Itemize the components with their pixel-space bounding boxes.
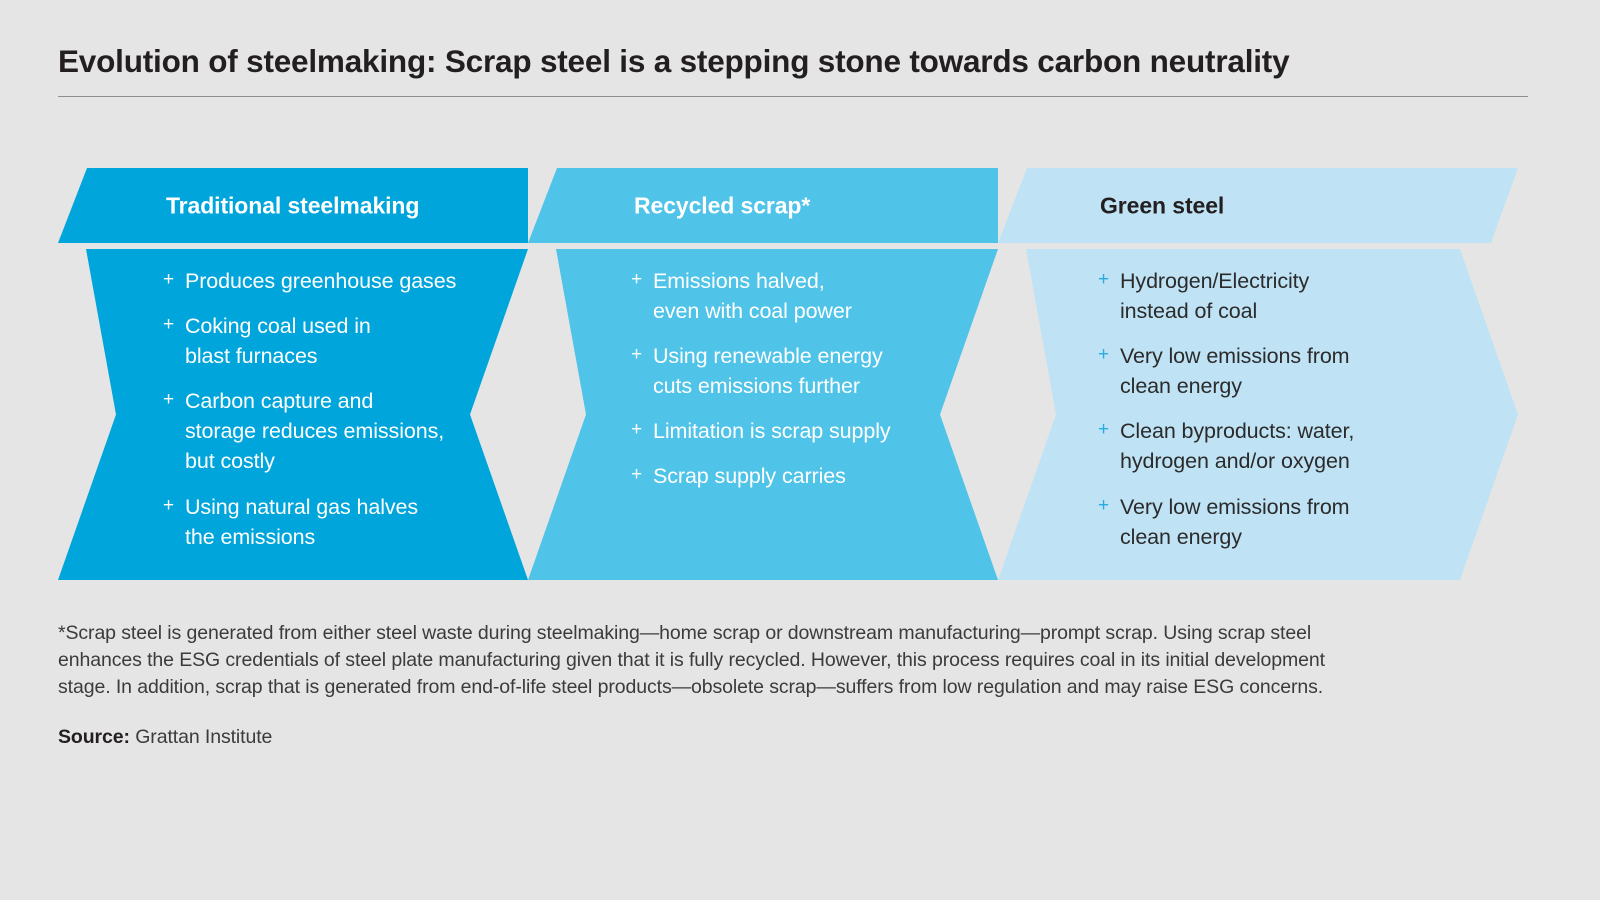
bullet-text: Using renewable energy cuts emissions fu… bbox=[653, 341, 981, 401]
bullet-text: Coking coal used in blast furnaces bbox=[185, 311, 513, 371]
plus-icon: + bbox=[1098, 266, 1120, 294]
list-item: + Limitation is scrap supply bbox=[631, 416, 981, 446]
footnote-block: *Scrap steel is generated from either st… bbox=[58, 620, 1358, 749]
list-item: + Coking coal used in blast furnaces bbox=[163, 311, 513, 371]
plus-icon: + bbox=[631, 341, 653, 369]
chevron-bullet-list-green-steel: + Hydrogen/Electricity instead of coal +… bbox=[1098, 266, 1498, 552]
plus-icon: + bbox=[163, 311, 185, 339]
chevron-stage-body-green-steel: + Hydrogen/Electricity instead of coal +… bbox=[998, 249, 1518, 580]
list-item: + Scrap supply carries bbox=[631, 461, 981, 491]
chevron-bullet-list-traditional-steelmaking: + Produces greenhouse gases + Coking coa… bbox=[163, 266, 513, 552]
list-item: + Using natural gas halves the emissions bbox=[163, 492, 513, 552]
bullet-text: Very low emissions from clean energy bbox=[1120, 341, 1498, 401]
page-title: Evolution of steelmaking: Scrap steel is… bbox=[58, 44, 1528, 79]
bullet-text: Produces greenhouse gases bbox=[185, 266, 513, 296]
bullet-text: Emissions halved, even with coal power bbox=[653, 266, 981, 326]
list-item: + Produces greenhouse gases bbox=[163, 266, 513, 296]
chevron-stage-traditional-steelmaking[interactable]: Traditional steelmaking + Produces green… bbox=[58, 168, 528, 580]
list-item: + Clean byproducts: water, hydrogen and/… bbox=[1098, 416, 1498, 476]
list-item: + Hydrogen/Electricity instead of coal bbox=[1098, 266, 1498, 326]
bullet-text: Hydrogen/Electricity instead of coal bbox=[1120, 266, 1498, 326]
chevron-stage-header-green-steel: Green steel bbox=[998, 168, 1518, 243]
source-line: Source: Grattan Institute bbox=[58, 726, 1358, 749]
plus-icon: + bbox=[1098, 492, 1120, 520]
plus-icon: + bbox=[1098, 416, 1120, 444]
chevron-stage-title-recycled-scrap: Recycled scrap* bbox=[634, 192, 810, 219]
title-block: Evolution of steelmaking: Scrap steel is… bbox=[58, 44, 1528, 97]
chevron-bullet-list-recycled-scrap: + Emissions halved, even with coal power… bbox=[631, 266, 981, 492]
bullet-text: Scrap supply carries bbox=[653, 461, 981, 491]
bullet-text: Limitation is scrap supply bbox=[653, 416, 981, 446]
plus-icon: + bbox=[631, 461, 653, 489]
plus-icon: + bbox=[631, 416, 653, 444]
chevron-stage-header-traditional-steelmaking: Traditional steelmaking bbox=[58, 168, 528, 243]
chevron-stage-green-steel[interactable]: Green steel + Hydrogen/Electricity inste… bbox=[998, 168, 1518, 580]
list-item: + Emissions halved, even with coal power bbox=[631, 266, 981, 326]
plus-icon: + bbox=[163, 266, 185, 294]
title-divider bbox=[58, 96, 1528, 97]
plus-icon: + bbox=[163, 492, 185, 520]
plus-icon: + bbox=[1098, 341, 1120, 369]
chevron-stage-title-green-steel: Green steel bbox=[1100, 192, 1224, 219]
bullet-text: Clean byproducts: water, hydrogen and/or… bbox=[1120, 416, 1498, 476]
source-value: Grattan Institute bbox=[135, 726, 272, 748]
chevron-stage-body-traditional-steelmaking: + Produces greenhouse gases + Coking coa… bbox=[58, 249, 528, 580]
chevron-stage-header-recycled-scrap: Recycled scrap* bbox=[528, 168, 998, 243]
chevron-stage-body-recycled-scrap: + Emissions halved, even with coal power… bbox=[528, 249, 998, 580]
chevron-stage-title-traditional-steelmaking: Traditional steelmaking bbox=[166, 192, 419, 219]
list-item: + Very low emissions from clean energy bbox=[1098, 341, 1498, 401]
list-item: + Carbon capture and storage reduces emi… bbox=[163, 386, 513, 476]
footnote-text: *Scrap steel is generated from either st… bbox=[58, 620, 1358, 701]
source-label: Source: bbox=[58, 726, 130, 748]
bullet-text: Very low emissions from clean energy bbox=[1120, 492, 1498, 552]
chevron-header-shape-green-steel bbox=[998, 168, 1518, 243]
list-item: + Using renewable energy cuts emissions … bbox=[631, 341, 981, 401]
plus-icon: + bbox=[631, 266, 653, 294]
plus-icon: + bbox=[163, 386, 185, 414]
bullet-text: Carbon capture and storage reduces emiss… bbox=[185, 386, 513, 476]
chevron-process-diagram: Traditional steelmaking + Produces green… bbox=[0, 168, 1600, 580]
bullet-text: Using natural gas halves the emissions bbox=[185, 492, 513, 552]
chevron-stage-recycled-scrap[interactable]: Recycled scrap* + Emissions halved, even… bbox=[528, 168, 998, 580]
list-item: + Very low emissions from clean energy bbox=[1098, 492, 1498, 552]
